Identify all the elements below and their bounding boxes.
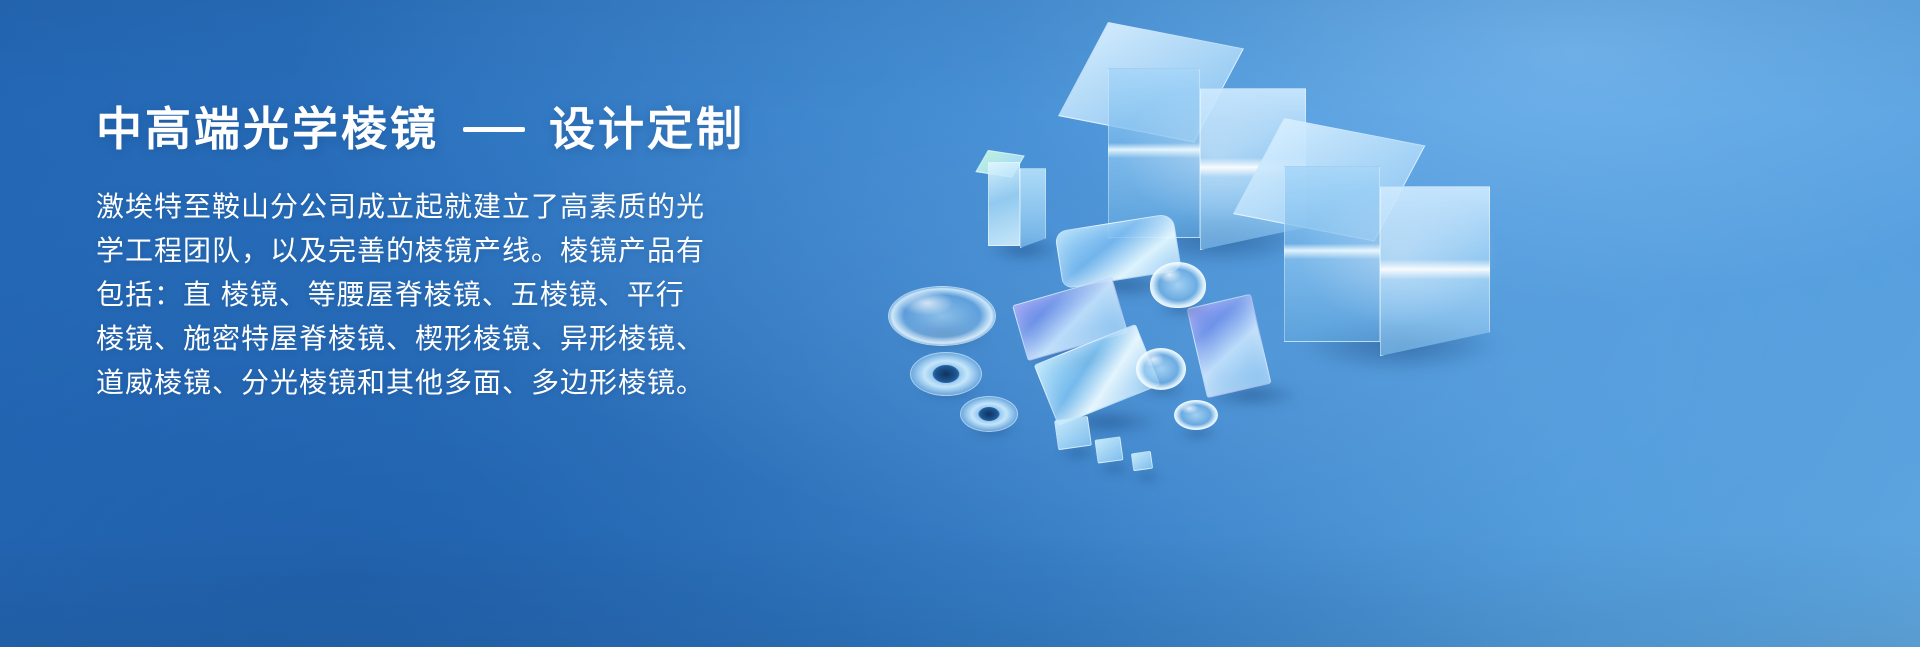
description-line-3: 包括：直 棱镜、等腰屋脊棱镜、五棱镜、平行: [96, 273, 836, 317]
cube-left-face: [1108, 68, 1200, 238]
large-glass-cube-front: [1280, 118, 1518, 368]
aperture-ring-large: [910, 352, 986, 402]
cube-body-front: [1280, 118, 1518, 368]
banner-description: 激埃特至鞍山分公司成立起就建立了高素质的光 学工程团队，以及完善的棱镜产线。棱镜…: [96, 185, 836, 405]
description-line-2: 学工程团队，以及完善的棱镜产线。棱镜产品有: [96, 229, 836, 273]
small-disc-lens: [1174, 400, 1222, 442]
dome-lens-body: [1150, 262, 1206, 308]
headline-left-text: 中高端光学棱镜: [96, 104, 439, 155]
ring-large-aperture: [933, 365, 959, 383]
description-line-5: 道威棱镜、分光棱镜和其他多面、多边形棱镜。: [96, 361, 836, 405]
lens-body: [888, 286, 996, 346]
description-line-1: 激埃特至鞍山分公司成立起就建立了高素质的光: [96, 185, 836, 229]
small-block-front-face: [988, 162, 1020, 246]
ring-large-body: [910, 352, 982, 396]
ring-small-aperture: [979, 407, 999, 421]
cube-front-right-face: [1380, 186, 1490, 356]
dome-lens: [1150, 262, 1212, 318]
headline-divider-icon: [463, 127, 525, 132]
small-block-body: [984, 150, 1054, 260]
page-title: 中高端光学棱镜 设计定制: [96, 104, 836, 155]
headline-right-text: 设计定制: [549, 104, 745, 155]
plano-convex-lens: [888, 286, 1000, 352]
micro-chip-3-shadow: [1130, 470, 1164, 484]
micro-chip-2: [1096, 438, 1136, 478]
small-disc-body: [1174, 400, 1218, 430]
ball-lens-body: [1136, 348, 1186, 390]
micro-chip-2-body: [1094, 436, 1123, 463]
optical-prism-hero-banner: 中高端光学棱镜 设计定制 激埃特至鞍山分公司成立起就建立了高素质的光 学工程团队…: [0, 0, 1920, 647]
micro-chip-1: [1056, 418, 1100, 462]
micro-chip-3: [1132, 452, 1166, 486]
micro-chip-3-body: [1131, 451, 1153, 472]
optical-prism-photo-scene: [840, 0, 1920, 647]
small-block-side-face: [1020, 168, 1046, 248]
small-glass-block: [984, 150, 1054, 260]
description-line-4: 棱镜、施密特屋脊棱镜、楔形棱镜、异形棱镜、: [96, 317, 836, 361]
banner-copy-block: 中高端光学棱镜 设计定制 激埃特至鞍山分公司成立起就建立了高素质的光 学工程团队…: [96, 104, 836, 405]
micro-chip-1-body: [1054, 416, 1092, 450]
aperture-ring-small: [960, 396, 1022, 440]
ball-lens: [1136, 348, 1192, 400]
ring-small-body: [960, 396, 1018, 432]
